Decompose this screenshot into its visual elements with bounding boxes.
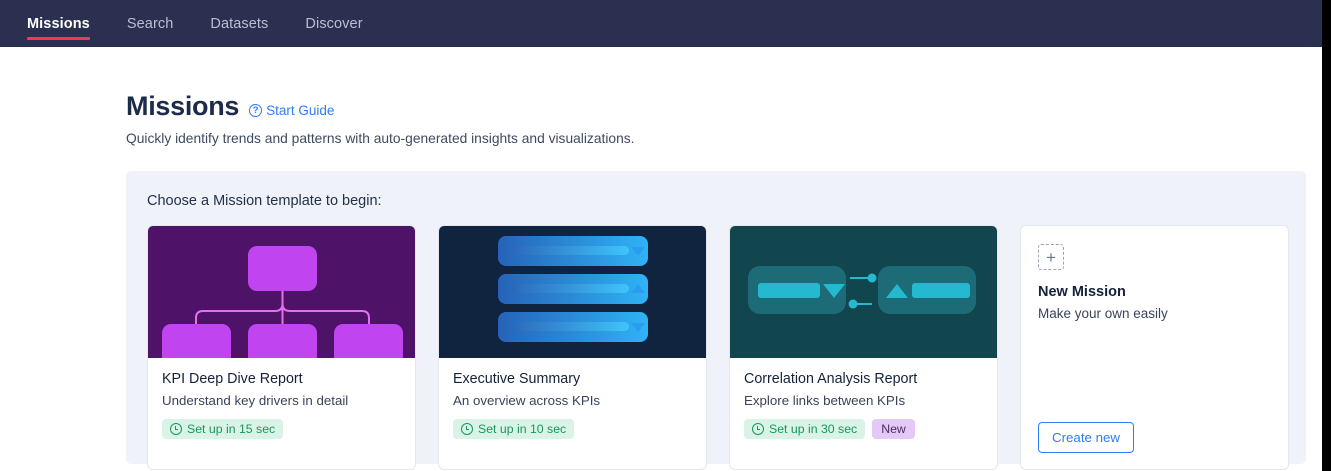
new-mission-title: New Mission [1038,284,1271,300]
template-card-description: Understand key drivers in detail [162,393,401,408]
app-viewport: Missions Search Datasets Discover Missio… [0,0,1322,471]
template-card-executive-summary[interactable]: Executive Summary An overview across KPI… [438,225,707,470]
nav-tab-label: Datasets [210,16,268,32]
clock-icon [170,423,182,435]
start-guide-link[interactable]: ? Start Guide [249,103,334,118]
template-thumbnail-correlation [730,226,997,358]
top-navigation-bar: Missions Search Datasets Discover [0,0,1322,47]
setup-time-badge: Set up in 30 sec [744,419,865,439]
stacked-bars-diagram-icon [439,226,706,358]
nav-tab-label: Search [127,16,174,32]
hierarchy-diagram-icon [148,226,415,358]
template-card-body: Executive Summary An overview across KPI… [439,358,706,439]
create-new-button[interactable]: Create new [1038,422,1134,453]
setup-time-badge: Set up in 15 sec [162,419,283,439]
question-circle-icon: ? [249,104,262,117]
template-card-body: KPI Deep Dive Report Understand key driv… [148,358,415,439]
template-card-title: Executive Summary [453,371,692,387]
template-card-description: An overview across KPIs [453,393,692,408]
start-guide-label: Start Guide [266,103,334,118]
template-thumbnail-hierarchy [148,226,415,358]
template-card-description: Explore links between KPIs [744,393,983,408]
spacer [1038,321,1271,422]
setup-time-label: Set up in 10 sec [478,422,566,436]
setup-time-badge: Set up in 10 sec [453,419,574,439]
template-card-title: KPI Deep Dive Report [162,371,401,387]
setup-time-label: Set up in 30 sec [769,422,857,436]
template-thumbnail-bars [439,226,706,358]
clock-icon [461,423,473,435]
template-card-correlation-analysis[interactable]: Correlation Analysis Report Explore link… [729,225,998,470]
template-card-badges: Set up in 15 sec [162,419,401,439]
plus-icon[interactable]: + [1038,244,1064,270]
template-card-kpi-deep-dive[interactable]: KPI Deep Dive Report Understand key driv… [147,225,416,470]
page-content: Missions ? Start Guide Quickly identify … [0,47,1322,464]
panel-heading: Choose a Mission template to begin: [147,193,1306,209]
new-badge: New [872,419,915,439]
new-mission-card[interactable]: + New Mission Make your own easily Creat… [1020,225,1289,470]
nav-tab-datasets[interactable]: Datasets [210,0,268,47]
correlation-diagram-icon [730,226,997,358]
new-mission-description: Make your own easily [1038,306,1271,321]
page-title: Missions [126,91,239,122]
template-card-title: Correlation Analysis Report [744,371,983,387]
template-card-body: Correlation Analysis Report Explore link… [730,358,997,439]
nav-tab-label: Missions [27,16,90,32]
page-subtitle: Quickly identify trends and patterns wit… [0,122,1322,146]
page-header: Missions ? Start Guide [0,47,1322,122]
template-card-badges: Set up in 30 sec New [744,419,983,439]
template-card-list: KPI Deep Dive Report Understand key driv… [147,225,1306,470]
template-panel: Choose a Mission template to begin: [126,171,1306,464]
template-card-badges: Set up in 10 sec [453,419,692,439]
setup-time-label: Set up in 15 sec [187,422,275,436]
clock-icon [752,423,764,435]
nav-tab-label: Discover [305,16,362,32]
nav-tab-missions[interactable]: Missions [27,0,90,47]
nav-tab-search[interactable]: Search [127,0,174,47]
nav-tab-discover[interactable]: Discover [305,0,362,47]
